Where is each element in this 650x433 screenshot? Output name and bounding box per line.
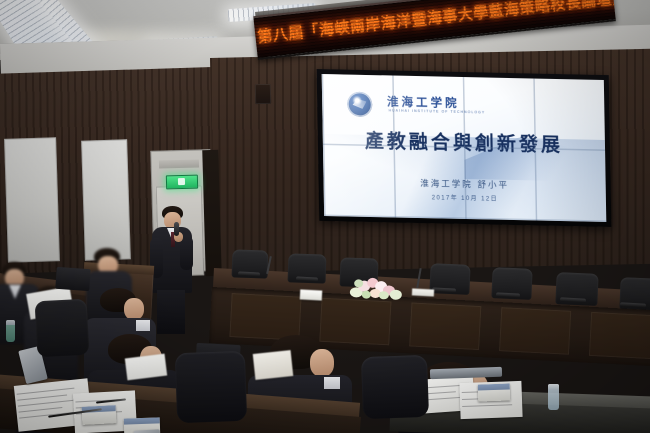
smartphone-on-desk[interactable] xyxy=(134,429,161,433)
wall-panel-2 xyxy=(81,139,131,260)
wall-speaker xyxy=(255,84,271,104)
audience-chair-1 xyxy=(35,299,90,358)
water-bottle-1 xyxy=(548,384,559,410)
floral-arrangement xyxy=(348,275,405,303)
audience-chair-3 xyxy=(361,355,429,419)
namecard-3 xyxy=(478,383,511,401)
presentation-screen: 淮海工学院 HUAIHAI INSTITUTE OF TECHNOLOGY 產教… xyxy=(322,74,607,222)
namecard-4 xyxy=(300,289,322,300)
water-bottle-2 xyxy=(6,320,15,342)
video-wall-bezel: 淮海工学院 HUAIHAI INSTITUTE OF TECHNOLOGY 產教… xyxy=(317,69,612,227)
speaker-arm-right xyxy=(180,236,193,270)
head-table-panel-5 xyxy=(589,312,650,360)
wall-panel-1 xyxy=(4,137,60,263)
conference-hall-photo: 第八屆「海峽兩岸海洋暨海事大學藍海策略校長論壇暨海洋科學與人文研討會」 淮海工学… xyxy=(0,0,650,433)
exit-sign xyxy=(166,175,198,190)
audience-chair-2 xyxy=(175,351,247,423)
head-table-panel-4 xyxy=(499,307,571,355)
dais-nameplate-1 xyxy=(412,288,434,296)
microphone[interactable] xyxy=(174,222,179,236)
document-7 xyxy=(253,350,294,380)
head-table-panel-1 xyxy=(229,293,301,341)
speaker-legs xyxy=(157,290,185,334)
desk-monitor-1 xyxy=(55,267,90,291)
wall-vent xyxy=(159,159,199,168)
head-table-panel-3 xyxy=(409,302,481,350)
screen-glare xyxy=(322,74,463,222)
